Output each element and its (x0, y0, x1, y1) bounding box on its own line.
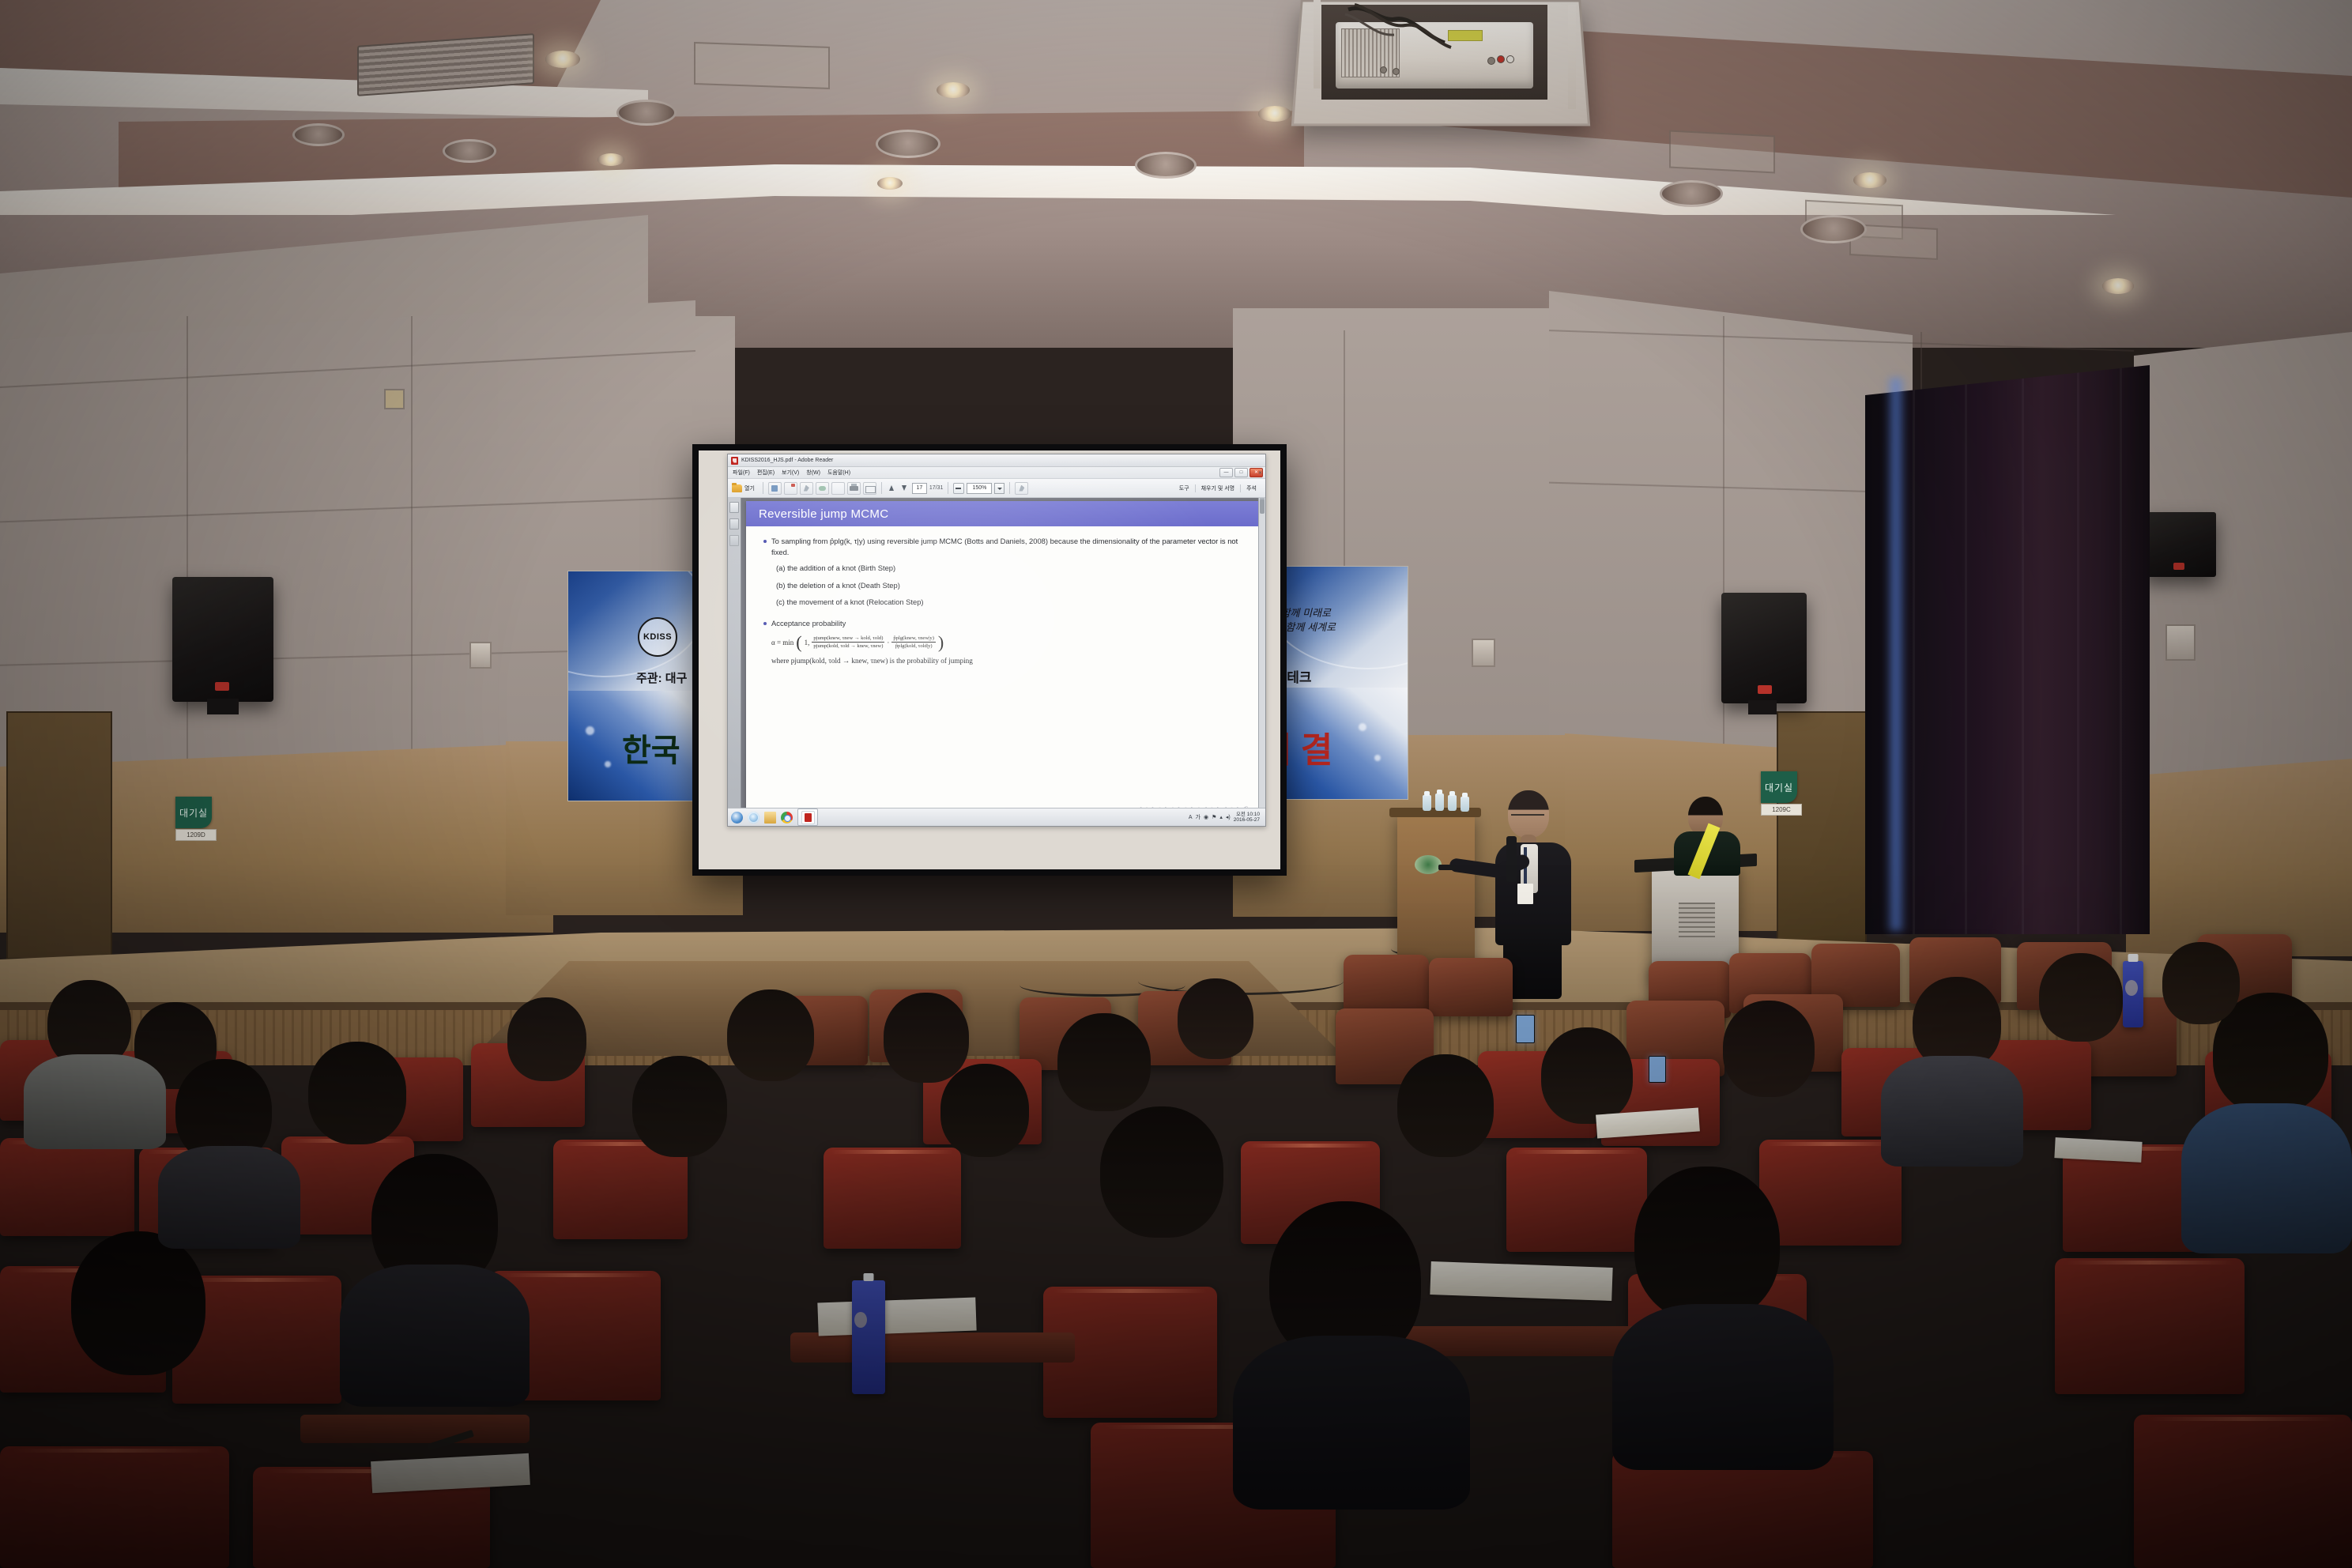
zoom-out-button[interactable] (953, 483, 964, 494)
maximize-button[interactable]: □ (1234, 468, 1248, 477)
save-icon[interactable] (768, 482, 782, 495)
speaker-brand-badge-right (1758, 685, 1772, 694)
tray-volume-icon[interactable]: ◂) (1226, 814, 1231, 820)
fill-and-sign-button[interactable]: 채우기 및 서명 (1195, 484, 1241, 492)
formula-one: 1, (805, 639, 810, 646)
comment-button[interactable]: 주석 (1240, 484, 1262, 492)
seat-highlight-13 (1053, 1289, 1207, 1293)
ime-indicator-icon[interactable]: A (1189, 815, 1193, 820)
audience-head-6 (71, 1231, 205, 1375)
audience-head-9 (884, 993, 969, 1083)
presenter-glasses (1511, 814, 1544, 819)
wall-speaker-upper-right (2143, 512, 2216, 577)
email-icon[interactable] (863, 482, 876, 495)
audience-torso-1 (24, 1054, 166, 1149)
banner-right-dot-2 (1374, 755, 1381, 761)
wall-control-box-far-right (2165, 624, 2196, 661)
audience-head-8 (727, 989, 814, 1081)
tools-button[interactable]: 도구 (1174, 484, 1195, 492)
podium-bottle-1 (1423, 795, 1431, 811)
downlight-5 (2102, 278, 2134, 294)
seat-highlight-5 (831, 1150, 952, 1154)
curtain-fold-5 (2120, 365, 2122, 934)
toolbar-separator-4 (1009, 482, 1010, 494)
staff-at-lectern (1669, 797, 1756, 884)
system-tray[interactable]: A 가 ◉ ⚑ ▴ ◂) 오전 10:10 2016-05-27 (1189, 812, 1262, 824)
formula-fraction-1-denominator: pjump(kold, τold → knew, τnew) (812, 643, 884, 650)
papers-foreground-left (371, 1453, 530, 1493)
seat-row4-7[interactable] (1506, 1148, 1647, 1252)
ceiling-access-panel-1 (694, 42, 830, 89)
downlight-2 (937, 82, 970, 98)
microphone (1506, 836, 1517, 882)
bullet-dot-icon-1 (763, 540, 767, 543)
stage-curtain (1865, 365, 2150, 934)
slide-step-a: (a) the addition of a knot (Birth Step) (776, 563, 1246, 575)
wall-speaker-left (172, 577, 273, 702)
minimize-button[interactable]: — (1219, 468, 1233, 477)
seat-front-1[interactable] (0, 1446, 229, 1568)
vertical-scrollbar[interactable] (1258, 498, 1265, 827)
audience-head-16 (1723, 1001, 1815, 1097)
chrome-icon[interactable] (781, 812, 793, 824)
downlight-6 (597, 153, 624, 166)
projector-port-1 (1487, 57, 1495, 65)
export-pdf-icon[interactable] (784, 482, 797, 495)
formula-close-paren: ) (938, 636, 944, 648)
seat-back-1[interactable] (1344, 955, 1429, 1013)
air-diffuser-1 (876, 130, 940, 158)
cloud-upload-icon[interactable] (816, 482, 829, 495)
menu-item-help[interactable]: 도움말(H) (827, 469, 850, 477)
ceiling-access-panel-2 (1669, 130, 1775, 173)
toolbar-right-group[interactable]: 도구 채우기 및 서명 주석 (1174, 484, 1262, 492)
audience-head-21 (1178, 978, 1253, 1059)
slide-header: Reversible jump MCMC (746, 501, 1261, 526)
audience-head-18 (2039, 953, 2123, 1042)
open-file-button[interactable]: 열기 (732, 484, 755, 492)
page-number-input[interactable]: 17 (912, 483, 927, 494)
open-file-label: 열기 (744, 484, 755, 492)
bookmarks-icon[interactable] (729, 518, 739, 530)
sign-icon[interactable] (800, 482, 813, 495)
audience-head-14 (1541, 1027, 1633, 1124)
audience-torso-5 (1612, 1304, 1834, 1470)
armrest-3 (300, 1415, 530, 1443)
door-right[interactable] (1777, 711, 1867, 952)
page-thumbnails-icon[interactable] (729, 502, 739, 513)
menu-bar[interactable]: 파일(F) 편집(E) 보기(V) 창(W) 도움말(H) — □ ✕ (728, 467, 1265, 479)
file-explorer-icon[interactable] (764, 812, 776, 824)
audience-torso-2 (158, 1146, 300, 1249)
menu-item-view[interactable]: 보기(V) (782, 469, 799, 477)
windows-taskbar[interactable]: A 가 ◉ ⚑ ▴ ◂) 오전 10:10 2016-05-27 (728, 808, 1265, 826)
taskbar-clock[interactable]: 오전 10:10 2016-05-27 (1234, 812, 1260, 824)
menu-item-window[interactable]: 창(W) (806, 469, 820, 477)
smartphone-1[interactable] (1516, 1015, 1535, 1043)
tray-action-center-icon[interactable]: ⚑ (1212, 814, 1216, 820)
wall-panel-plate (384, 389, 405, 409)
papers-foreground-right (1430, 1261, 1612, 1301)
formula-lhs: α = min (771, 639, 793, 646)
auditorium-photo: 대기실 1209D 대기실 1209C KDISS 주관: 대구 (0, 0, 2352, 1568)
projector-mount-arm-right (1568, 5, 1576, 109)
acceptance-probability-formula: α = min ( 1, pjump(knew, τnew → kold, τo… (771, 635, 1246, 650)
tray-expand-icon[interactable]: ▴ (1219, 814, 1223, 820)
downlight-1 (545, 51, 580, 68)
ime-korean-icon[interactable]: 가 (1196, 813, 1200, 821)
pdf-toolbar[interactable]: ✕ 열기 17 17/3 (728, 479, 1265, 498)
projection-screen: KDISS2016_HJS.pdf - Adobe Reader 파일(F) 편… (692, 444, 1287, 876)
slide-step-b: (b) the deletion of a knot (Death Step) (776, 580, 1246, 592)
formula-fraction-2-numerator: p̂plg(knew, τnew|y) (891, 635, 936, 643)
water-bottle-foreground (852, 1280, 885, 1394)
projector-port-2 (1497, 55, 1505, 63)
seat-highlight-7 (1515, 1150, 1639, 1154)
waiting-room-number-right: 1209C (1761, 804, 1802, 816)
curtain-fold-4 (2077, 365, 2079, 934)
podium-bottle-3 (1448, 795, 1457, 811)
curtain-fold-1 (1913, 365, 1915, 934)
slide-title: Reversible jump MCMC (759, 507, 888, 521)
formula-fraction-2: p̂plg(knew, τnew|y) p̂plg(kold, τold|y) (891, 635, 936, 650)
menu-item-edit[interactable]: 편집(E) (757, 469, 775, 477)
presentation-slide: Reversible jump MCMC To sampling from p̂… (746, 501, 1261, 825)
page-total-label: 17/31 (929, 485, 944, 491)
page-view[interactable]: Reversible jump MCMC To sampling from p̂… (741, 498, 1265, 827)
kdiss-logo-text: KDISS (643, 632, 672, 642)
curtain-fold-2 (1965, 365, 1967, 934)
downlight-3 (1258, 106, 1291, 122)
select-tool-icon[interactable] (1015, 482, 1028, 495)
audience-head-15 (1634, 1167, 1780, 1321)
projector-cables (1344, 2, 1478, 57)
audience-head-10 (1057, 1013, 1151, 1111)
waiting-room-number-left: 1209D (175, 829, 217, 841)
downlight-4 (1853, 172, 1886, 188)
seat-row5-6[interactable] (2055, 1258, 2245, 1394)
slide-bullet-1: To sampling from p̂plg(k, τ|y) using rev… (763, 536, 1246, 557)
curtain-blue-accent-light (1886, 378, 1906, 931)
smartphone-2-screen (1649, 1057, 1665, 1082)
waiting-room-sign-right-label: 대기실 (1765, 781, 1793, 794)
waiting-room-sign-left-label: 대기실 (179, 806, 208, 820)
smartphone-1-screen (1517, 1016, 1534, 1042)
previous-page-icon[interactable] (887, 483, 897, 494)
projector-mount-arm-left (1314, 0, 1321, 89)
slide-bullet-1-text: To sampling from p̂plg(k, τ|y) using rev… (771, 536, 1246, 557)
menu-item-file[interactable]: 파일(F) (733, 469, 750, 477)
projector-port-5 (1393, 68, 1400, 75)
slide-bullet-2-text: Acceptance probability (771, 618, 846, 629)
audience-head-22 (940, 1064, 1029, 1157)
acrobat-icon (731, 457, 738, 465)
formula-fraction-2-denominator: p̂plg(kold, τold|y) (894, 643, 934, 650)
seat-highlight-6 (1249, 1144, 1372, 1148)
seat-highlight-16 (13, 1449, 215, 1453)
toolbar-close-icon[interactable]: ✕ (1258, 470, 1262, 476)
air-diffuser-2 (1135, 152, 1197, 179)
start-orb-icon[interactable] (731, 812, 743, 824)
speaker-brand-badge-left (215, 682, 229, 691)
presenter-name-badge (1517, 884, 1533, 904)
formula-dot: · (887, 639, 889, 646)
formula-fraction-1-numerator: pjump(knew, τnew → kold, τold) (812, 635, 884, 643)
projector-port-3 (1506, 55, 1514, 63)
banner-right-dot-1 (1359, 723, 1366, 731)
screen-surface: KDISS2016_HJS.pdf - Adobe Reader 파일(F) 편… (699, 450, 1280, 869)
seat-highlight-15 (2066, 1261, 2233, 1265)
curtain-fold-3 (2022, 365, 2024, 934)
audience-head-23 (507, 997, 586, 1081)
wall-speaker-right (1721, 593, 1807, 703)
folder-icon (732, 484, 742, 492)
seat-highlight-8 (1768, 1142, 1893, 1146)
seat-back-2[interactable] (1429, 958, 1513, 1016)
air-diffuser-5 (616, 100, 677, 126)
minimize-icon: — (1224, 470, 1229, 475)
window-title-bar: KDISS2016_HJS.pdf - Adobe Reader (728, 454, 1265, 467)
laser-pointer (1438, 865, 1456, 870)
slide-where-text: where pjump(kold, τold → knew, τnew) is … (771, 657, 1246, 665)
downlight-7 (877, 177, 903, 190)
kdiss-logo: KDISS (638, 617, 677, 657)
adobe-reader-taskbar-button[interactable] (797, 808, 818, 826)
tray-network-icon[interactable]: ◉ (1204, 814, 1208, 820)
audience-head-20 (2162, 942, 2240, 1024)
page-icon[interactable] (831, 482, 845, 495)
wall-control-box-right (1472, 639, 1495, 667)
seat-row4-5[interactable] (824, 1148, 961, 1249)
air-diffuser-3 (1800, 215, 1867, 243)
banner-left-line2: 한국 (622, 725, 680, 771)
scrollbar-thumb[interactable] (1260, 499, 1265, 514)
print-icon[interactable] (847, 482, 861, 495)
audience-head-7 (632, 1056, 727, 1157)
slide-bullet-2: Acceptance probability (763, 618, 1246, 629)
projector-port-4 (1380, 66, 1387, 73)
window-controls[interactable]: — □ ✕ (1219, 468, 1263, 477)
air-diffuser-4 (1660, 180, 1723, 207)
speaker-mount-left (207, 699, 239, 714)
internet-explorer-icon[interactable] (748, 812, 759, 824)
slide-step-c: (c) the movement of a knot (Relocation S… (776, 597, 1246, 609)
speaker-mount-right (1748, 700, 1777, 714)
audience-head-13 (1397, 1054, 1494, 1157)
toolbar-separator-2 (881, 482, 882, 494)
audience-torso-4 (1233, 1336, 1470, 1510)
audience-head-11 (1100, 1106, 1223, 1238)
banner-left-dot-1 (586, 726, 594, 735)
air-diffuser-7 (292, 123, 345, 146)
water-bottle-right (2123, 961, 2143, 1027)
door-left[interactable] (6, 711, 112, 959)
maximize-icon: □ (1240, 470, 1243, 475)
banner-left-dot-2 (605, 761, 611, 767)
seat-highlight-12 (500, 1273, 650, 1277)
cable-bundle-svg (1344, 2, 1478, 57)
speaker-brand-badge-upper-right (2173, 563, 2184, 570)
seat-row4-8[interactable] (1759, 1140, 1902, 1246)
seat-row4-1[interactable] (0, 1138, 134, 1236)
navigation-pane[interactable] (728, 498, 741, 827)
formula-open-paren: ( (796, 636, 801, 648)
lectern-vent (1679, 903, 1715, 937)
seat-highlight-20 (2147, 1417, 2339, 1421)
clock-time: 오전 10:10 (1236, 812, 1260, 817)
audience-torso-6 (2181, 1103, 2352, 1253)
bullet-dot-icon-2 (763, 622, 767, 625)
papers-seatarm (817, 1298, 976, 1336)
slide-body: To sampling from p̂plg(k, τ|y) using rev… (746, 526, 1261, 665)
toolbar-separator-3 (948, 482, 948, 494)
pdf-body: Reversible jump MCMC To sampling from p̂… (728, 498, 1265, 827)
smartphone-2[interactable] (1649, 1056, 1666, 1083)
adobe-reader-window[interactable]: KDISS2016_HJS.pdf - Adobe Reader 파일(F) 편… (727, 454, 1266, 827)
toolbar-separator-1 (763, 482, 763, 494)
wainscot-far-right (2126, 759, 2352, 956)
zoom-dropdown-icon[interactable] (994, 483, 1004, 494)
podium-emblem (1415, 855, 1442, 874)
waiting-room-sign-left: 대기실 (175, 797, 212, 828)
wall-control-box-left (469, 642, 492, 669)
formula-fraction-1: pjump(knew, τnew → kold, τold) pjump(kol… (812, 635, 884, 650)
seat-highlight-11 (183, 1278, 331, 1282)
armrest-1 (790, 1332, 1075, 1363)
zoom-level-input[interactable]: 150% (967, 483, 992, 494)
window-title: KDISS2016_HJS.pdf - Adobe Reader (741, 458, 833, 463)
waiting-room-sign-right: 대기실 (1761, 771, 1797, 803)
next-page-icon[interactable] (899, 483, 910, 494)
clock-date: 2016-05-27 (1234, 817, 1260, 823)
podium-bottle-2 (1435, 793, 1444, 811)
adobe-reader-icon (801, 811, 815, 824)
audience-torso-3 (340, 1265, 530, 1407)
air-diffuser-6 (443, 139, 496, 163)
banner-left-line1: 주관: 대구 (636, 669, 687, 686)
attachments-icon[interactable] (729, 535, 739, 546)
seat-front-5[interactable] (2134, 1415, 2352, 1568)
audience-torso-7 (1881, 1056, 2023, 1167)
audience-head-4 (308, 1042, 406, 1144)
